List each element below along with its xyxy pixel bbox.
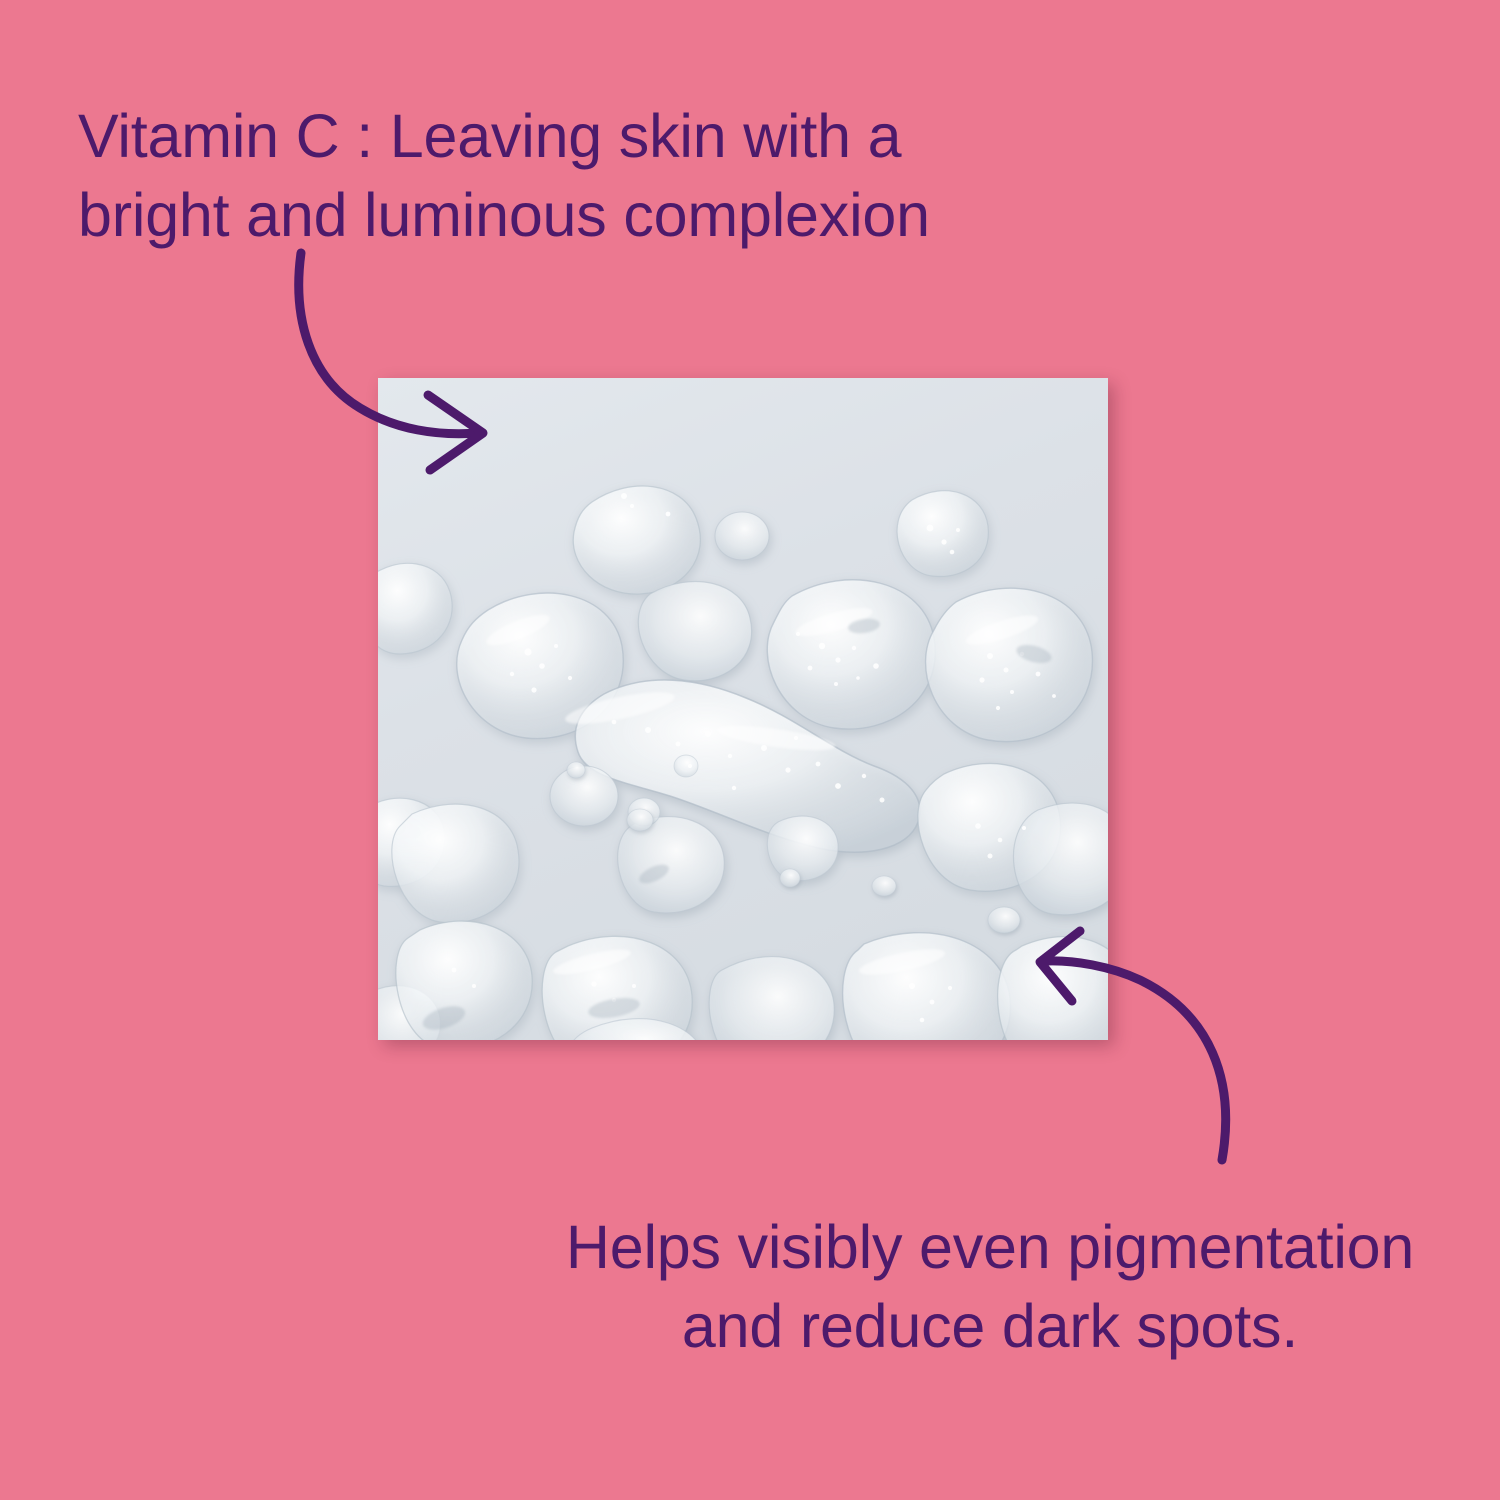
gel-texture-illustration xyxy=(378,378,1108,1040)
caption-vitamin-c: Vitamin C : Leaving skin with a bright a… xyxy=(78,97,1038,255)
product-photo xyxy=(378,378,1108,1040)
caption-pigmentation: Helps visibly even pigmentation and redu… xyxy=(500,1208,1480,1366)
poster-canvas: Vitamin C : Leaving skin with a bright a… xyxy=(0,0,1500,1500)
